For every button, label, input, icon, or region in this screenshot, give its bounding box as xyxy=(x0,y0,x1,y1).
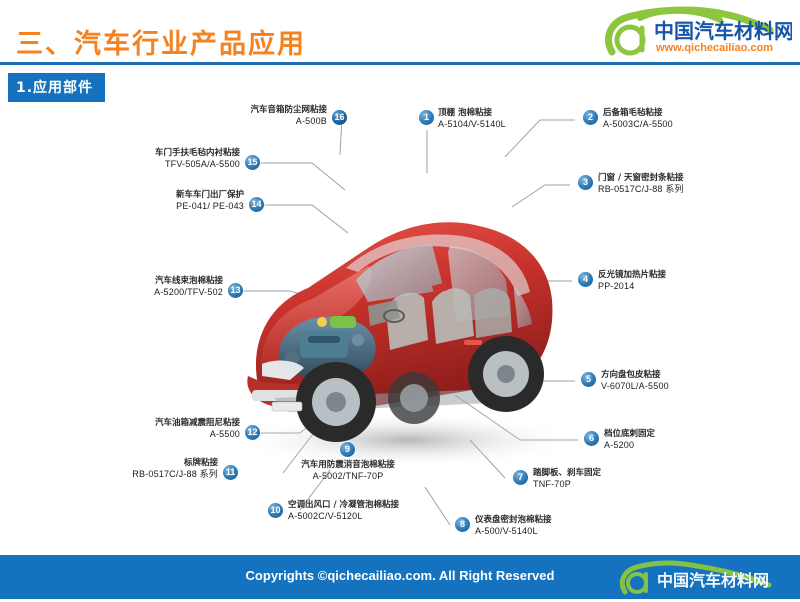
header-divider xyxy=(0,62,800,65)
diagram-stage: 1 顶棚 泡棉粘接 A-5104/V-5140L 2 后备箱毛毡粘接 A-500… xyxy=(0,95,800,555)
callout-7-code: TNF-70P xyxy=(533,479,601,490)
callout-bullet-11[interactable]: 11 xyxy=(223,465,238,480)
callout-2: 后备箱毛毡粘接 A-5003C/A-5500 xyxy=(603,108,673,130)
vehicle-illustration xyxy=(218,140,598,470)
callout-bullet-6[interactable]: 6 xyxy=(584,431,599,446)
callout-bullet-4[interactable]: 4 xyxy=(578,272,593,287)
callout-11: 标牌粘接 RB-0517C/J-88 系列 xyxy=(55,458,218,480)
callout-6-cn: 档位底刺固定 xyxy=(604,429,655,440)
page-header: 三、汽车行业产品应用 中国汽车材料网 www.qichecailiao.com xyxy=(0,0,800,62)
callout-13: 汽车线束泡棉粘接 A-5200/TFV-502 xyxy=(62,276,223,298)
callout-5-code: V-6070L/A-5500 xyxy=(601,381,669,392)
footer-logo-brand-cn: 中国汽车材料网 xyxy=(657,571,769,590)
callout-6-code: A-5200 xyxy=(604,440,655,451)
callout-7-cn: 踏脚板、刹车固定 xyxy=(533,468,601,479)
callout-14-code: PE-041/ PE-043 xyxy=(85,201,244,212)
callout-13-cn: 汽车线束泡棉粘接 xyxy=(62,276,223,287)
callout-9: 汽车用防震消音泡棉粘接 A-5002/TNF-70P xyxy=(268,460,428,482)
callout-2-code: A-5003C/A-5500 xyxy=(603,119,673,130)
callout-8: 仪表盘密封泡棉粘接 A-500/V-5140L xyxy=(475,515,552,537)
callout-6: 档位底刺固定 A-5200 xyxy=(604,429,655,451)
callout-3-cn: 门窗 / 天窗密封条粘接 xyxy=(598,173,684,184)
callout-bullet-16[interactable]: 16 xyxy=(332,110,347,125)
callout-10-code: A-5002C/V-5120L xyxy=(288,511,399,522)
callout-bullet-13[interactable]: 13 xyxy=(228,283,243,298)
page-title: 三、汽车行业产品应用 xyxy=(16,22,306,61)
qichecailiao-logo-footer[interactable]: 中国汽车材料网 xyxy=(617,559,792,597)
callout-15-cn: 车门手扶毛毡内衬粘接 xyxy=(78,148,240,159)
callout-bullet-15[interactable]: 15 xyxy=(245,155,260,170)
callout-5-cn: 方向盘包皮粘接 xyxy=(601,370,669,381)
callout-10-cn: 空调出风口 / 冷凝管泡棉粘接 xyxy=(288,500,399,511)
callout-bullet-8[interactable]: 8 xyxy=(455,517,470,532)
callout-1-code: A-5104/V-5140L xyxy=(438,119,506,130)
callout-14-cn: 新车车门出厂保护 xyxy=(85,190,244,201)
logo-brand-cn: 中国汽车材料网 xyxy=(654,19,792,43)
callout-16-cn: 汽车音箱防尘网粘接 xyxy=(165,105,327,116)
callout-bullet-10[interactable]: 10 xyxy=(268,503,283,518)
callout-3-code: RB-0517C/J-88 系列 xyxy=(598,184,684,195)
callout-8-code: A-500/V-5140L xyxy=(475,526,552,537)
callout-12-code: A-5500 xyxy=(80,429,240,440)
callout-bullet-12[interactable]: 12 xyxy=(245,425,260,440)
callout-3: 门窗 / 天窗密封条粘接 RB-0517C/J-88 系列 xyxy=(598,173,684,195)
callout-13-code: A-5200/TFV-502 xyxy=(62,287,223,298)
callout-10: 空调出风口 / 冷凝管泡棉粘接 A-5002C/V-5120L xyxy=(288,500,399,522)
callout-5: 方向盘包皮粘接 V-6070L/A-5500 xyxy=(601,370,669,392)
page-footer: Copyrights ©qichecailiao.com. All Right … xyxy=(0,555,800,599)
callout-4-cn: 反光镜加热片粘接 xyxy=(598,270,666,281)
callout-14: 新车车门出厂保护 PE-041/ PE-043 xyxy=(85,190,244,212)
callout-bullet-3[interactable]: 3 xyxy=(578,175,593,190)
callout-15: 车门手扶毛毡内衬粘接 TFV-505A/A-5500 xyxy=(78,148,240,170)
callout-8-cn: 仪表盘密封泡棉粘接 xyxy=(475,515,552,526)
callout-7: 踏脚板、刹车固定 TNF-70P xyxy=(533,468,601,490)
callout-1: 顶棚 泡棉粘接 A-5104/V-5140L xyxy=(438,108,506,130)
qichecailiao-logo[interactable]: 中国汽车材料网 www.qichecailiao.com xyxy=(602,6,792,58)
callout-4: 反光镜加热片粘接 PP-2014 xyxy=(598,270,666,292)
logo-brand-url: www.qichecailiao.com xyxy=(655,42,773,54)
callout-bullet-1[interactable]: 1 xyxy=(419,110,434,125)
callout-12-cn: 汽车油箱减震阻尼粘接 xyxy=(80,418,240,429)
callout-4-code: PP-2014 xyxy=(598,281,666,292)
callout-bullet-7[interactable]: 7 xyxy=(513,470,528,485)
callout-bullet-5[interactable]: 5 xyxy=(581,372,596,387)
callout-bullet-9[interactable]: 9 xyxy=(340,442,355,457)
callout-bullet-2[interactable]: 2 xyxy=(583,110,598,125)
callout-16: 汽车音箱防尘网粘接 A-500B xyxy=(165,105,327,127)
callout-12: 汽车油箱减震阻尼粘接 A-5500 xyxy=(80,418,240,440)
callout-9-code: A-5002/TNF-70P xyxy=(268,471,428,482)
callout-15-code: TFV-505A/A-5500 xyxy=(78,159,240,170)
callout-1-cn: 顶棚 泡棉粘接 xyxy=(438,108,506,119)
callout-16-code: A-500B xyxy=(165,116,327,127)
callout-9-cn: 汽车用防震消音泡棉粘接 xyxy=(268,460,428,471)
callout-11-cn: 标牌粘接 xyxy=(55,458,218,469)
callout-11-code: RB-0517C/J-88 系列 xyxy=(55,469,218,480)
callout-2-cn: 后备箱毛毡粘接 xyxy=(603,108,673,119)
callout-bullet-14[interactable]: 14 xyxy=(249,197,264,212)
